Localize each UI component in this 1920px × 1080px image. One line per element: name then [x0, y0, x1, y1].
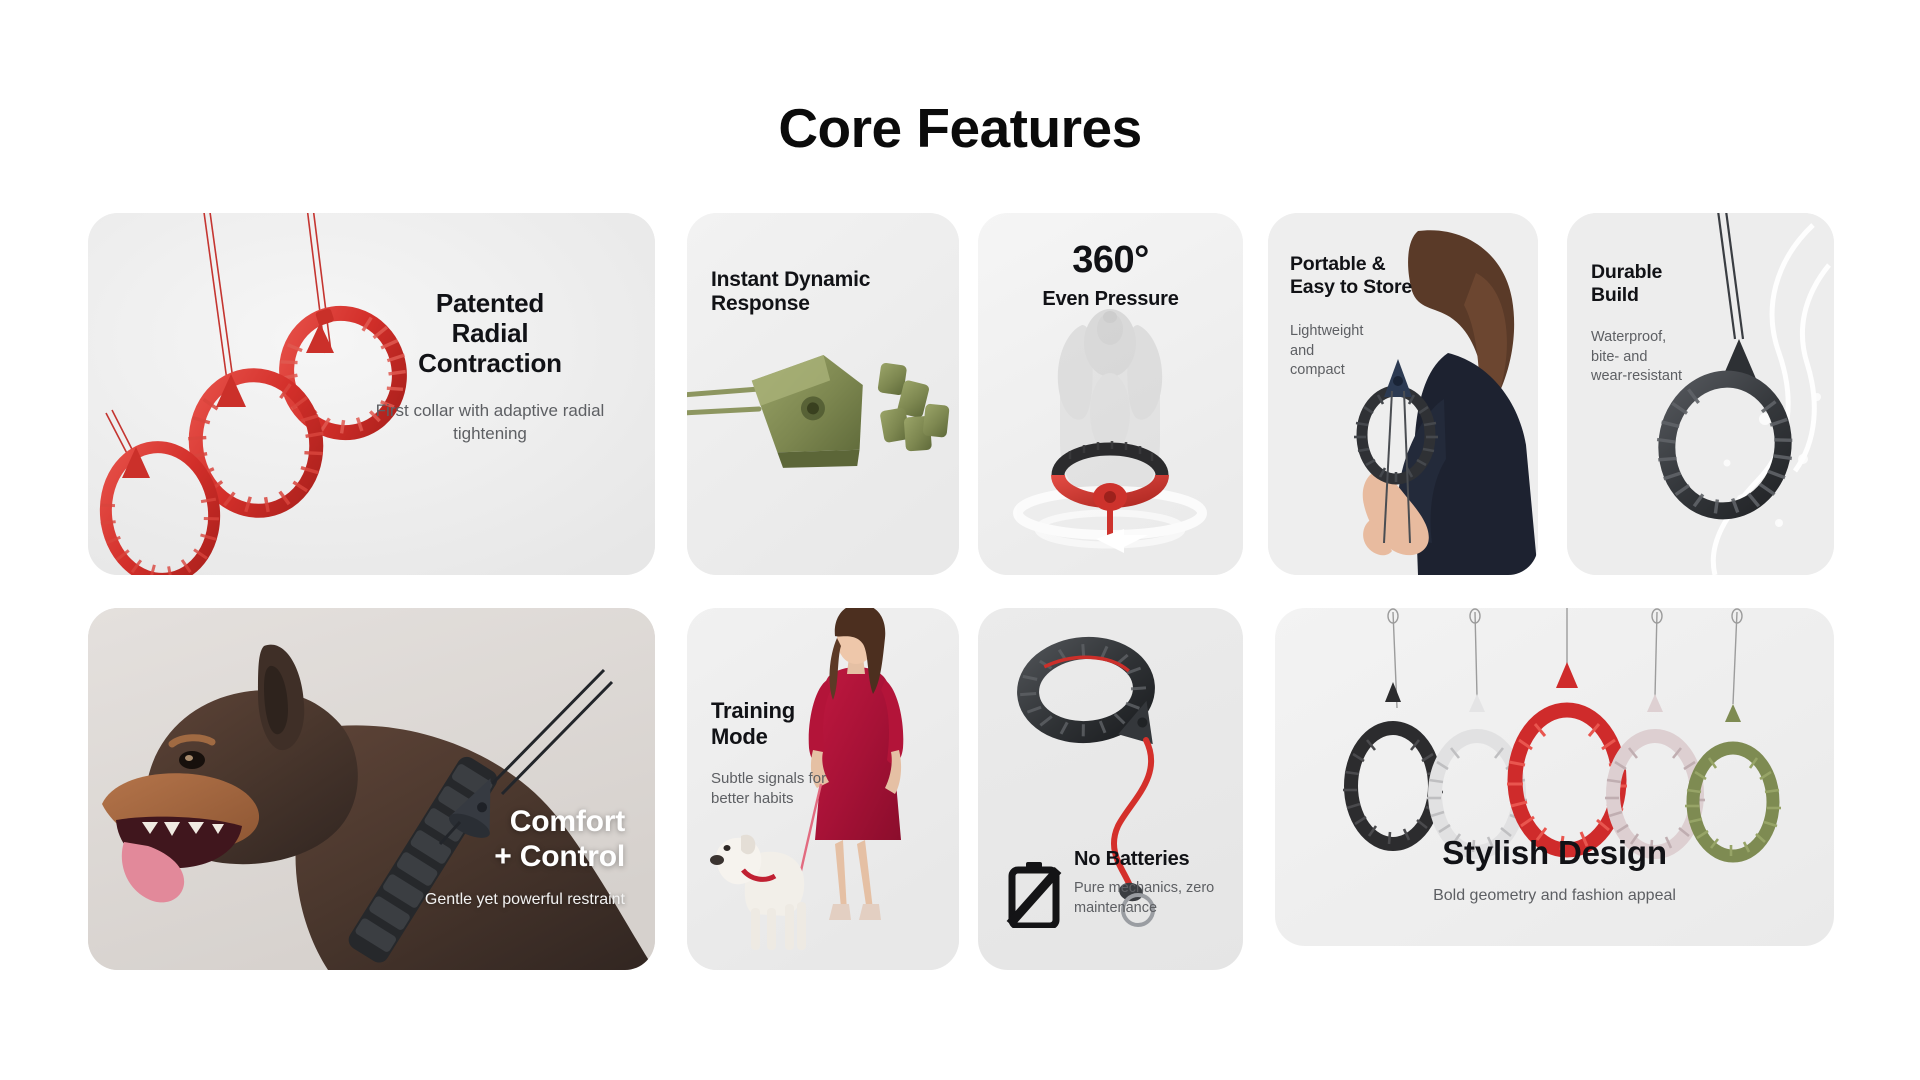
feature-card-instant-dynamic-response[interactable]: Instant Dynamic Response — [687, 213, 959, 575]
card-subtext: First collar with adaptive radial tighte… — [365, 400, 615, 446]
card-heading-line: Mode — [711, 724, 861, 750]
feature-card-durable-build[interactable]: Durable Build Waterproof, bite- and wear… — [1567, 213, 1834, 575]
card-subtext: Gentle yet powerful restraint — [325, 889, 625, 910]
card-heading-line: Patented — [365, 288, 615, 318]
card-heading-line: Contraction — [365, 348, 615, 378]
card-subtext-line: Lightweight — [1290, 322, 1465, 341]
stylish-text-block: Stylish Design Bold geometry and fashion… — [1275, 834, 1834, 906]
card-heading-line: Portable & — [1290, 253, 1465, 276]
portable-text-block: Portable & Easy to Store Lightweight and… — [1290, 253, 1465, 380]
patented-text-block: Patented Radial Contraction First collar… — [365, 288, 615, 446]
instant-text-block: Instant Dynamic Response — [711, 268, 941, 317]
card-heading-line: + Control — [325, 840, 625, 875]
card-heading-line: Build — [1591, 284, 1751, 307]
card-big-value: 360° — [978, 239, 1243, 282]
card-heading-line: Durable — [1591, 261, 1751, 284]
feature-card-patented-radial-contraction[interactable]: Patented Radial Contraction First collar… — [88, 213, 655, 575]
card-subtext-line: Pure mechanics, zero — [1074, 879, 1234, 898]
training-text-block: Training Mode Subtle signals for better … — [711, 698, 861, 809]
feature-card-training-mode[interactable]: Training Mode Subtle signals for better … — [687, 608, 959, 970]
feature-card-stylish-design[interactable]: Stylish Design Bold geometry and fashion… — [1275, 608, 1834, 946]
card-subtext-line: maintenance — [1074, 899, 1234, 918]
card-subtext-line: better habits — [711, 789, 861, 809]
feature-grid-page: Core Features — [0, 0, 1920, 1080]
card-heading-line: No Batteries — [1074, 848, 1234, 871]
card-heading-line: Instant Dynamic — [711, 268, 941, 292]
comfort-text-block: Comfort + Control Gentle yet powerful re… — [325, 805, 625, 910]
card-subtext-line: Subtle signals for — [711, 769, 861, 789]
card-heading-line: Easy to Store — [1290, 276, 1465, 299]
feature-card-no-batteries[interactable]: No Batteries Pure mechanics, zero mainte… — [978, 608, 1243, 970]
card-subtext-line: bite- and — [1591, 348, 1751, 367]
durable-text-block: Durable Build Waterproof, bite- and wear… — [1591, 261, 1751, 386]
card-heading-line: Even Pressure — [978, 288, 1243, 311]
card-heading-line: Stylish Design — [1275, 834, 1834, 872]
card-heading-line: Response — [711, 292, 941, 316]
battery-off-icon — [1006, 862, 1062, 928]
card-subtext-line: compact — [1290, 361, 1465, 380]
feature-card-comfort-and-control[interactable]: Comfort + Control Gentle yet powerful re… — [88, 608, 655, 970]
feature-card-portable-easy-to-store[interactable]: Portable & Easy to Store Lightweight and… — [1268, 213, 1538, 575]
card-subtext-line: and — [1290, 342, 1465, 361]
pressure360-text-block: 360° Even Pressure — [978, 239, 1243, 311]
card-subtext: Bold geometry and fashion appeal — [1275, 885, 1834, 906]
page-title: Core Features — [0, 96, 1920, 160]
feature-card-even-pressure-360[interactable]: 360° Even Pressure — [978, 213, 1243, 575]
card-heading-line: Comfort — [325, 805, 625, 840]
doberman-with-collar-image — [88, 608, 655, 970]
battery-text-block: No Batteries Pure mechanics, zero mainte… — [1074, 848, 1234, 918]
card-subtext-line: wear-resistant — [1591, 367, 1751, 386]
card-heading-line: Radial — [365, 318, 615, 348]
card-heading-line: Training — [711, 698, 861, 724]
card-subtext-line: Waterproof, — [1591, 328, 1751, 347]
